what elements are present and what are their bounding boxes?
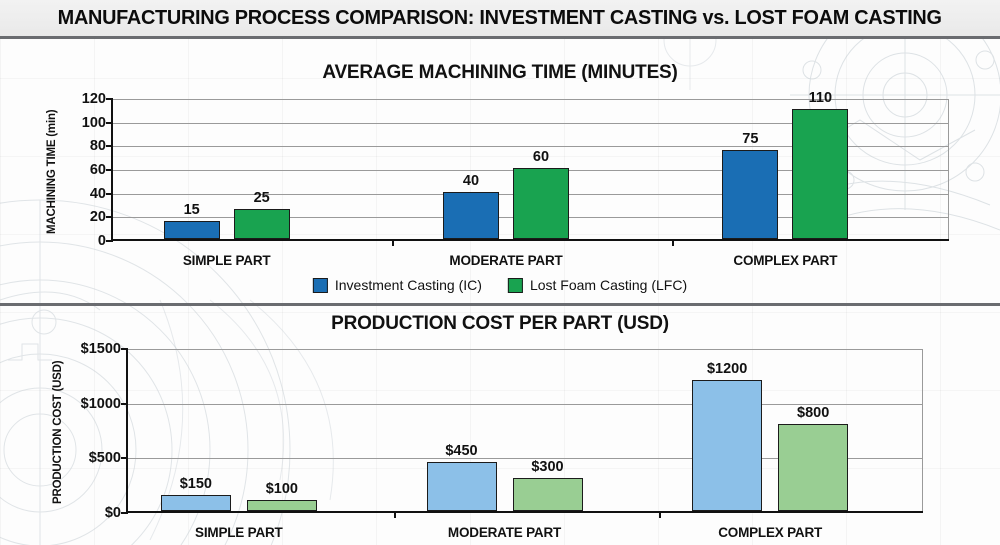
y-tick-label: 20 (90, 209, 106, 225)
bar-value-label: 15 (184, 202, 200, 218)
bar-value-label: $150 (180, 476, 212, 492)
y-tick-mark (121, 457, 128, 459)
bar-machining-time-1-1[interactable] (513, 168, 569, 239)
y-tick-label: $1000 (81, 396, 121, 412)
page-header: MANUFACTURING PROCESS COMPARISON: INVEST… (0, 0, 1000, 39)
chart-panel-production-cost: PRODUCTION COST PER PART (USD) PRODUCTIO… (0, 306, 1000, 545)
bar-value-label: 25 (254, 190, 270, 206)
page-title: MANUFACTURING PROCESS COMPARISON: INVEST… (58, 6, 942, 30)
bar-value-label: $800 (797, 405, 829, 421)
bar-production-cost-1-0[interactable] (427, 462, 497, 511)
bar-value-label: 110 (809, 90, 832, 106)
x-tick-mark (392, 239, 394, 246)
x-tick-mark (659, 511, 661, 518)
x-category-label: MODERATE PART (449, 253, 562, 268)
bar-production-cost-1-1[interactable] (513, 478, 583, 511)
chart-title-machining-time: AVERAGE MACHINING TIME (MINUTES) (0, 62, 1000, 84)
bar-production-cost-0-0[interactable] (161, 495, 231, 511)
bar-value-label: $450 (445, 443, 477, 459)
plot-area-production-cost: $0$500$1000$1500$150$100SIMPLE PART$450$… (126, 349, 923, 513)
bar-machining-time-2-0[interactable] (722, 150, 778, 239)
y-tick-mark (106, 145, 113, 147)
x-category-label: COMPLEX PART (733, 253, 837, 268)
y-tick-mark (106, 169, 113, 171)
bar-value-label: $1200 (707, 361, 747, 377)
y-tick-mark (106, 216, 113, 218)
y-tick-mark (106, 193, 113, 195)
y-tick-label: 80 (90, 138, 106, 154)
plot-area-machining-time: 0204060801001201525SIMPLE PART4060MODERA… (111, 99, 949, 241)
x-tick-mark (394, 511, 396, 518)
y-axis-label-machining-time: MACHINING TIME (min) (46, 99, 58, 244)
bar-value-label: $100 (266, 481, 298, 497)
chart-title-production-cost: PRODUCTION COST PER PART (USD) (0, 313, 1000, 335)
x-category-label: SIMPLE PART (195, 525, 283, 540)
x-category-label: COMPLEX PART (718, 525, 822, 540)
y-tick-mark (106, 240, 113, 242)
legend-item-ic[interactable]: Investment Casting (IC) (313, 277, 482, 293)
legend-label: Investment Casting (IC) (335, 277, 482, 293)
bar-machining-time-2-1[interactable] (792, 109, 848, 239)
y-tick-mark (106, 122, 113, 124)
legend-item-lfc[interactable]: Lost Foam Casting (LFC) (508, 277, 687, 293)
plot-right-border (922, 349, 923, 511)
bar-value-label: 60 (533, 149, 549, 165)
bar-value-label: 40 (463, 173, 479, 189)
y-tick-mark (121, 348, 128, 350)
y-tick-mark (121, 512, 128, 514)
y-tick-mark (106, 98, 113, 100)
y-tick-label: 40 (90, 186, 106, 202)
bar-production-cost-0-1[interactable] (247, 500, 317, 511)
panel-divider (0, 303, 1000, 306)
y-gridline (128, 349, 923, 350)
y-axis-label-production-cost: PRODUCTION COST (USD) (52, 350, 64, 515)
bar-production-cost-2-1[interactable] (778, 424, 848, 511)
y-tick-mark (121, 403, 128, 405)
legend-label: Lost Foam Casting (LFC) (530, 277, 687, 293)
y-tick-label: 60 (90, 162, 106, 178)
x-category-label: SIMPLE PART (183, 253, 271, 268)
bar-machining-time-0-1[interactable] (234, 209, 290, 239)
bar-value-label: 75 (742, 131, 758, 147)
chart-panel-machining-time: AVERAGE MACHINING TIME (MINUTES) MACHINI… (0, 36, 1000, 306)
x-tick-mark (672, 239, 674, 246)
y-tick-label: 120 (82, 91, 106, 107)
bar-machining-time-0-0[interactable] (164, 221, 220, 239)
y-tick-label: $1500 (81, 341, 121, 357)
y-tick-label: 0 (98, 233, 106, 249)
legend-swatch-icon (313, 278, 328, 293)
bar-production-cost-2-0[interactable] (692, 380, 762, 511)
legend-swatch-icon (508, 278, 523, 293)
y-tick-label: $500 (89, 450, 121, 466)
x-category-label: MODERATE PART (448, 525, 561, 540)
y-tick-label: 100 (82, 115, 106, 131)
bar-machining-time-1-0[interactable] (443, 192, 499, 239)
bar-value-label: $300 (531, 459, 563, 475)
infographic-root: MANUFACTURING PROCESS COMPARISON: INVEST… (0, 0, 1000, 545)
y-tick-label: $0 (105, 505, 121, 521)
chart-legend: Investment Casting (IC)Lost Foam Casting… (313, 277, 687, 293)
